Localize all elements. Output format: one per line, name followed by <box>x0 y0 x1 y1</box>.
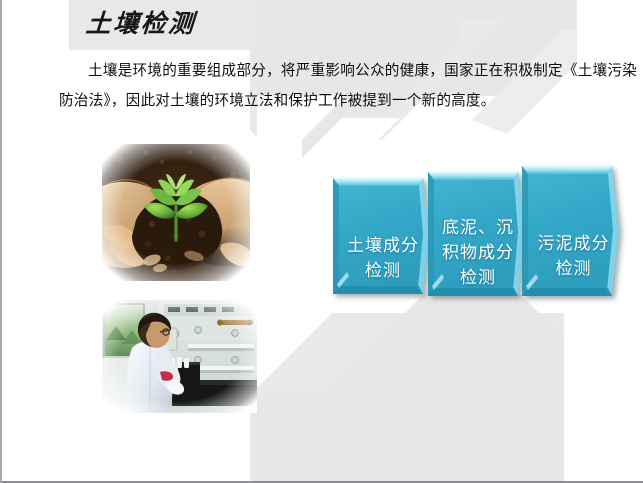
process-arrow-sludge-composition[interactable]: 污泥成分 检测 <box>516 160 631 304</box>
page-title: 土壤检测 <box>85 4 198 40</box>
photo-hands-holding-soil <box>102 144 250 281</box>
body-paragraph: 土壤是环境的重要组成部分，将严重影响公众的健康，国家正在积极制定《土壤污染防治法… <box>59 56 637 116</box>
slide-canvas: 土壤检测 土壤是环境的重要组成部分，将严重影响公众的健康，国家正在积极制定《土壤… <box>0 0 643 483</box>
photo-lab-technician <box>102 300 257 413</box>
photo-lab-technician-image <box>102 300 257 413</box>
photo-hands-holding-soil-image <box>102 144 250 281</box>
arrow-label-3: 污泥成分 检测 <box>516 232 631 282</box>
